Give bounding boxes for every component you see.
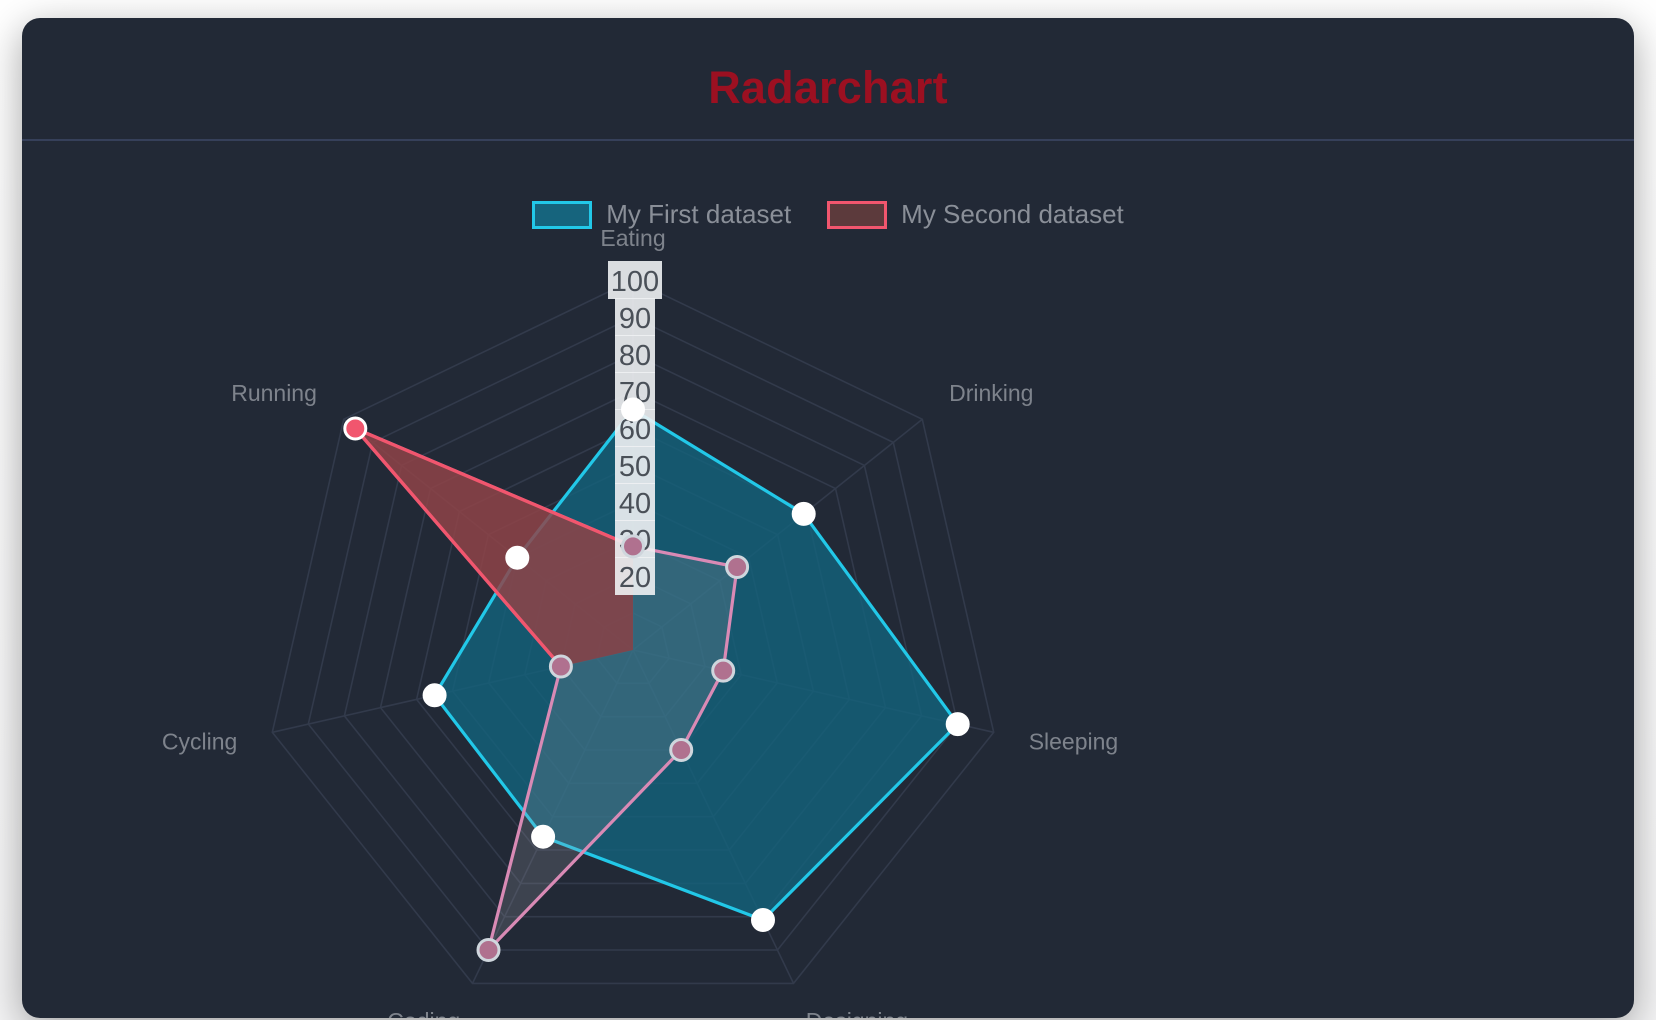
legend-label-first-dataset: My First dataset [606,199,791,230]
radar-chart-svg: 2030405060708090100EatingDrinkingSleepin… [22,141,1634,1018]
page-root: Radarchart 2030405060708090100EatingDrin… [0,0,1656,1020]
data-point[interactable] [622,399,644,421]
legend-swatch-second-dataset [827,201,887,229]
data-point[interactable] [671,740,692,761]
radar-chart-container: 2030405060708090100EatingDrinkingSleepin… [22,141,1634,1018]
svg-text:20: 20 [619,562,651,594]
axis-label-coding: Coding [387,1008,460,1018]
data-point[interactable] [623,536,644,557]
data-point[interactable] [947,713,969,735]
chart-card: Radarchart 2030405060708090100EatingDrin… [22,18,1634,1018]
page-title: Radarchart [22,62,1634,114]
data-point[interactable] [532,826,554,848]
data-point[interactable] [506,547,528,569]
svg-text:50: 50 [619,451,651,483]
axis-label-drinking: Drinking [949,380,1033,406]
data-point[interactable] [727,557,748,578]
data-point[interactable] [752,909,774,931]
data-point[interactable] [345,418,366,439]
svg-text:40: 40 [619,488,651,520]
svg-text:100: 100 [611,266,659,298]
axis-label-running: Running [231,380,317,406]
data-point[interactable] [713,660,734,681]
legend-label-second-dataset: My Second dataset [901,199,1124,230]
data-point[interactable] [550,656,571,677]
legend-item-first-dataset[interactable]: My First dataset [532,199,791,230]
legend-swatch-first-dataset [532,201,592,229]
data-point[interactable] [424,684,446,706]
legend-item-second-dataset[interactable]: My Second dataset [827,199,1124,230]
card-header: Radarchart [22,18,1634,141]
data-point[interactable] [478,940,499,961]
chart-legend: My First dataset My Second dataset [22,199,1634,230]
svg-text:80: 80 [619,340,651,372]
axis-label-cycling: Cycling [162,729,237,755]
svg-text:90: 90 [619,303,651,335]
data-point[interactable] [793,503,815,525]
axis-label-designing: Designing [806,1008,908,1018]
axis-label-sleeping: Sleeping [1029,729,1119,755]
